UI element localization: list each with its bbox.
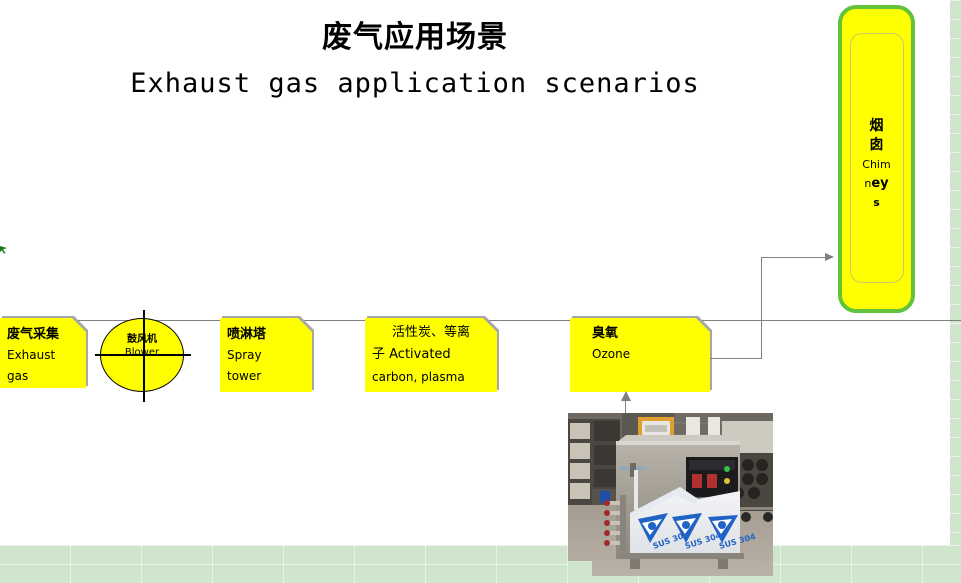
- collection-label-english-line2: collection: [7, 387, 79, 408]
- collection-label-chinese: 废气采集: [7, 324, 79, 345]
- page-title: 废气应用场景 Exhaust gas application scenarios: [0, 18, 830, 104]
- spray-tower-label-chinese: 喷淋塔: [227, 324, 305, 345]
- process-node-blower[interactable]: 鼓风机 Blower: [100, 318, 186, 394]
- chimney-label-english-1: Chim: [842, 155, 911, 174]
- diagram-canvas: 废气应用场景 Exhaust gas application scenarios…: [0, 0, 961, 583]
- connector-to-chimney: [761, 257, 827, 258]
- spreadsheet-grid-bottom: [0, 545, 961, 583]
- activated-carbon-line1: 活性炭、等离: [372, 322, 490, 344]
- chimney-label-english-3: s: [842, 193, 911, 212]
- page-title-english: Exhaust gas application scenarios: [0, 64, 830, 104]
- page-title-chinese: 废气应用场景: [0, 18, 830, 58]
- chimney-label-chinese-1: 烟: [842, 117, 911, 136]
- green-marker-icon: [0, 241, 8, 249]
- chimney-label-chinese-2: 囱: [842, 136, 911, 155]
- ozone-label-chinese: 臭氧: [592, 323, 703, 344]
- arrow-head-to-chimney-icon: [825, 253, 834, 261]
- process-box-spray-tower[interactable]: 喷淋塔 Spray tower: [220, 318, 312, 392]
- connector-ozone-right: [710, 358, 762, 359]
- ozone-label-english: Ozone: [592, 344, 703, 365]
- spray-tower-label-english-line2: tower: [227, 366, 305, 387]
- spreadsheet-grid-right: [950, 0, 961, 545]
- process-box-collection[interactable]: 废气采集 Exhaust gas collection: [0, 318, 86, 388]
- ozone-generator-photo: SUS 304 SUS 304 SUS 304: [568, 413, 773, 576]
- chimney-label: 烟 囱 Chim ney s: [842, 117, 911, 212]
- spray-tower-label-english-line1: Spray: [227, 345, 305, 366]
- chimney-label-english-2b: ey: [871, 176, 888, 191]
- process-box-activated-carbon[interactable]: 活性炭、等离 子 Activated carbon, plasma: [365, 318, 497, 392]
- arrow-head-to-ozone-icon: [621, 391, 631, 401]
- chimney-label-english-2: ney: [842, 174, 911, 193]
- activated-carbon-line2: 子 Activated: [372, 344, 490, 366]
- connector-ozone-up: [761, 257, 762, 358]
- process-node-chimney[interactable]: 烟 囱 Chim ney s: [838, 5, 915, 313]
- collection-label-english-line1: Exhaust gas: [7, 345, 79, 387]
- activated-carbon-line3: carbon, plasma: [372, 366, 490, 388]
- process-box-ozone[interactable]: 臭氧 Ozone: [570, 318, 710, 392]
- blower-crosshair-vertical: [143, 310, 145, 402]
